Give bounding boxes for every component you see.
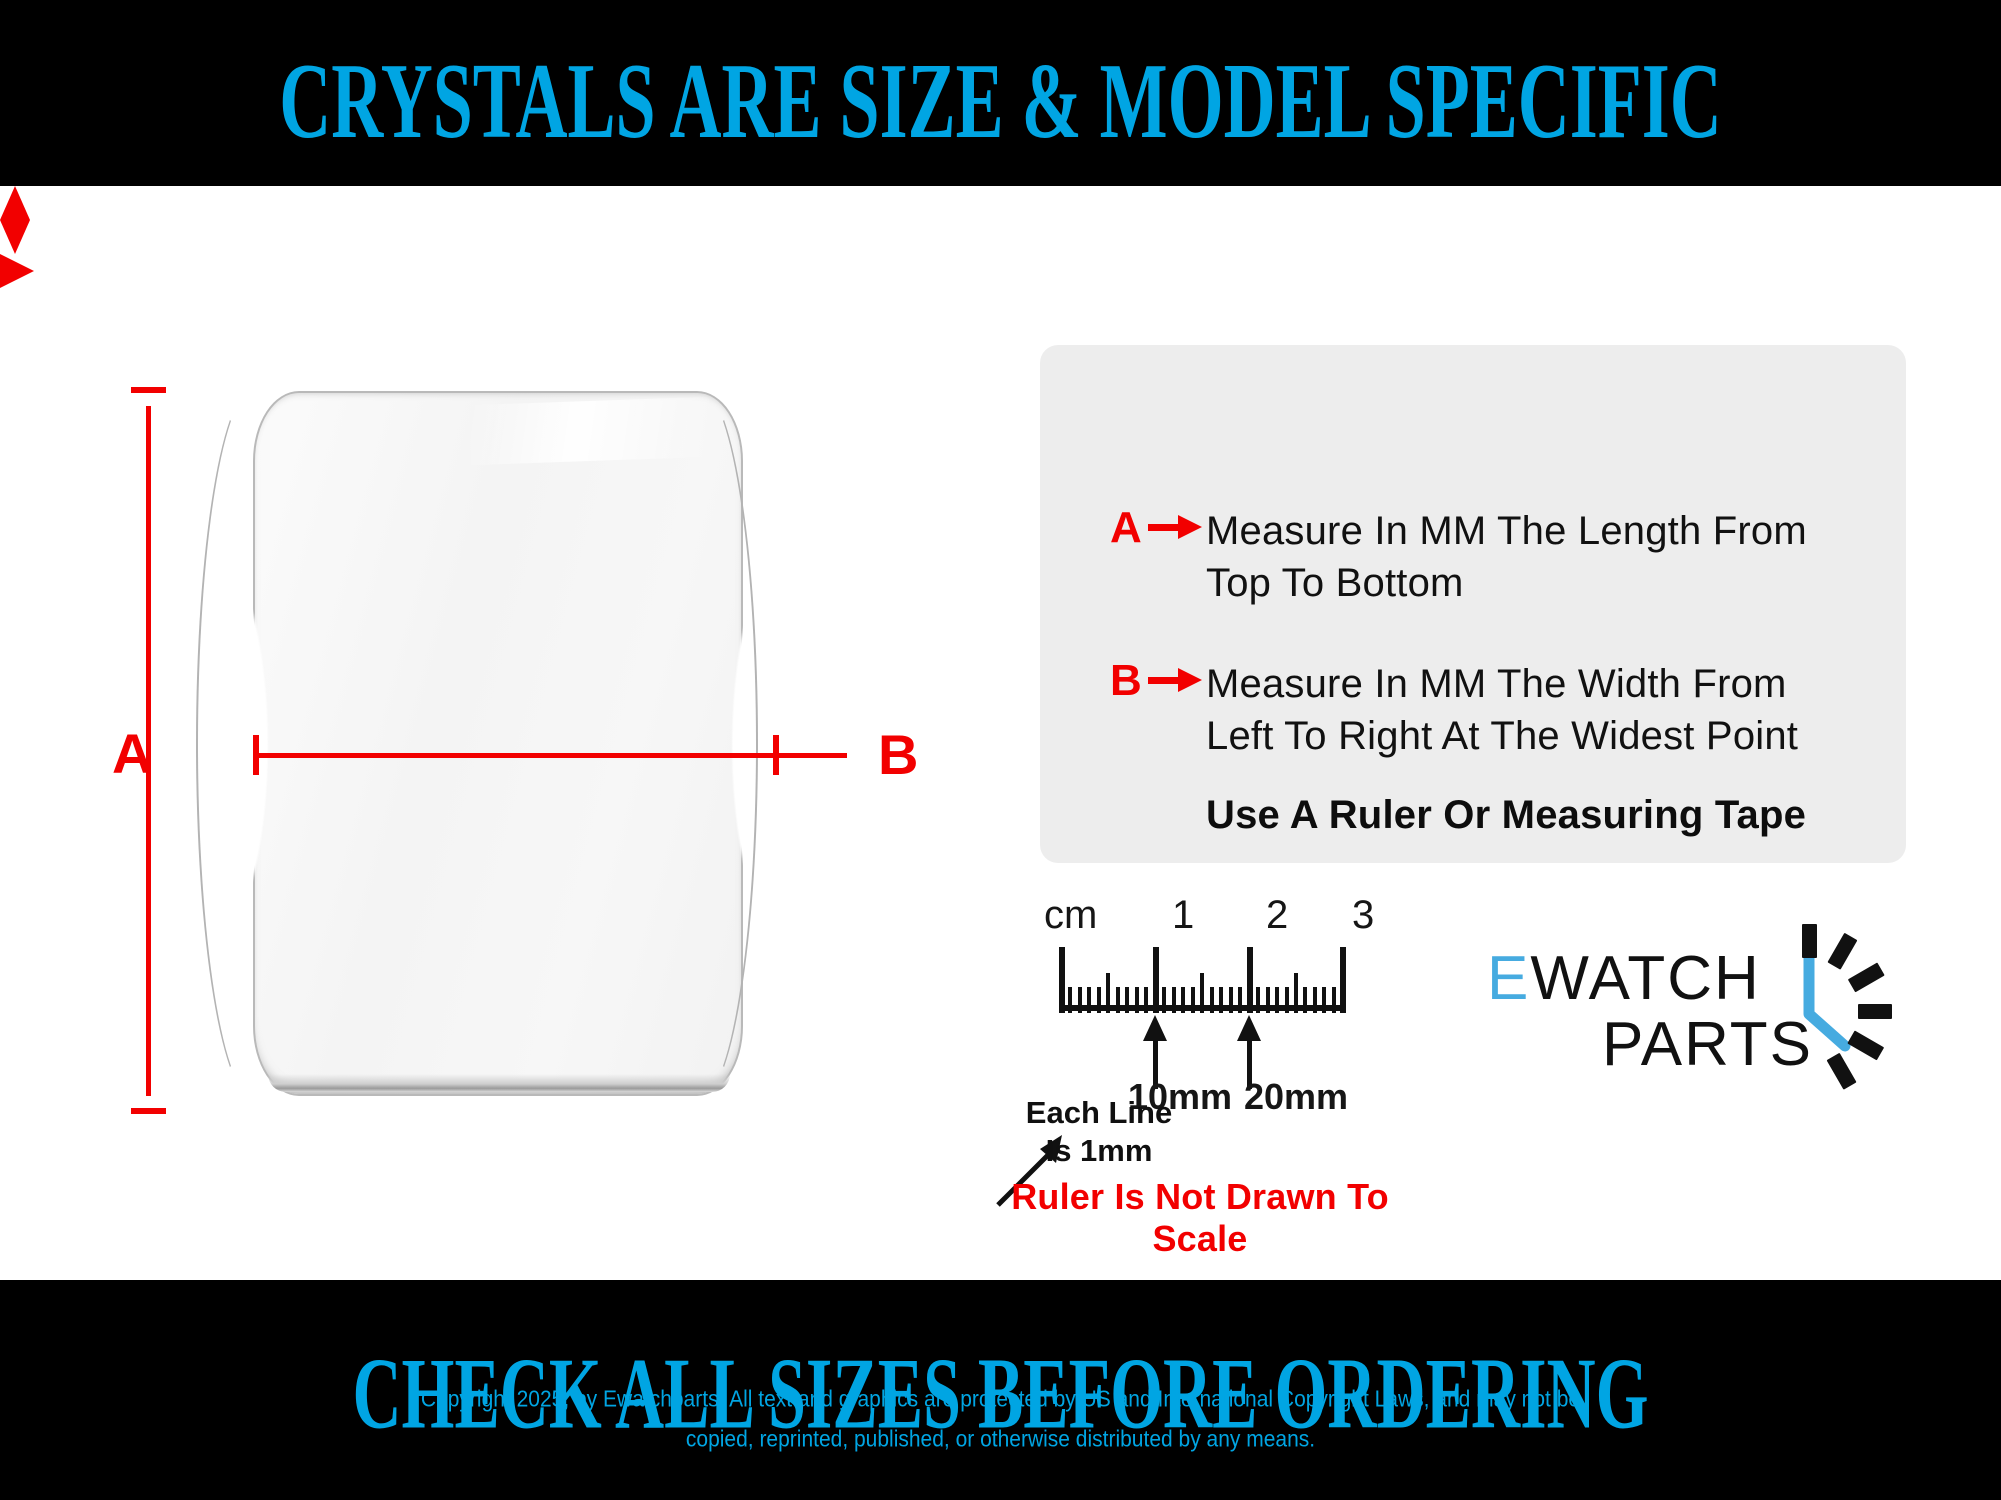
ruler-tick-minor (1313, 987, 1317, 1013)
dimension-b-line (255, 753, 847, 758)
instruction-marker-b: B (1110, 659, 1144, 703)
copyright-line-1: Copyright 2025, by Ewatchparts. All text… (0, 1378, 2001, 1423)
ruler-tick-minor (1191, 987, 1195, 1013)
ruler-label-1: 1 (1172, 895, 1194, 935)
ruler-tick-minor (1078, 987, 1082, 1013)
ruler-tick-minor (1266, 987, 1270, 1013)
dimension-a-label: A (112, 726, 152, 782)
logo-letter-e: E (1487, 944, 1530, 1013)
clock-icon (1783, 924, 1911, 1102)
ruler-callout-arrows (984, 1013, 1408, 1083)
copyright-line-2: copied, reprinted, published, or otherwi… (0, 1418, 2001, 1463)
ruler-tick-minor (1238, 987, 1242, 1013)
logo-wordmark: EWATCH PARTS (1487, 946, 1817, 1078)
ruler-tick-minor (1172, 987, 1176, 1013)
crystal-figure: A B (0, 186, 960, 1280)
ruler-tick-minor (1275, 987, 1279, 1013)
ruler-tick-minor (1135, 987, 1139, 1013)
top-banner: CRYSTALS ARE SIZE & MODEL SPECIFIC (0, 0, 2001, 186)
dimension-a-up-arrow-icon (0, 186, 30, 220)
each-line-note-line1: Each Line (984, 1094, 1214, 1132)
ruler-tick-minor (1332, 987, 1336, 1013)
arrow-right-icon (1144, 505, 1206, 549)
ruler-tick-major (1059, 947, 1065, 1013)
dimension-b-label: B (878, 727, 918, 783)
ruler-tick-minor (1256, 987, 1260, 1013)
each-line-note-line2: Is 1mm (984, 1132, 1214, 1170)
ruler-callout-20mm: 20mm (1244, 1077, 1348, 1117)
ruler-tick-minor (1229, 987, 1233, 1013)
ruler-tick-minor (1181, 987, 1185, 1013)
use-ruler-note: Use A Ruler Or Measuring Tape (1206, 793, 1806, 838)
logo-line-1: EWATCH (1487, 946, 1817, 1012)
ruler-tick-major (1153, 947, 1159, 1013)
watch-crystal-illustration (253, 391, 743, 1096)
ruler-label-cm: cm (1044, 895, 1097, 935)
instruction-text-b: Measure In MM The Width From Left To Rig… (1206, 658, 1798, 762)
ruler-tick-minor (1144, 987, 1148, 1013)
main-content-area: A B A Measure In MM The Length From Top … (0, 186, 2001, 1280)
ruler-tick-mid (1200, 973, 1204, 1013)
instruction-row-a: A Measure In MM The Length From Top To B… (1110, 505, 1807, 609)
logo-word-watch: WATCH (1530, 944, 1760, 1013)
dimension-a-top-cap (131, 387, 166, 393)
dimension-a-down-arrow-icon (0, 220, 30, 254)
copyright-block: Copyright 2025, by Ewatchparts. All text… (0, 1380, 2001, 1460)
ruler-tick-minor (1322, 987, 1326, 1013)
dimension-b-right-cap (773, 735, 779, 775)
logo-word-parts: PARTS (1487, 1012, 1817, 1078)
ruler-tick-major (1340, 947, 1346, 1013)
instruction-row-b: B Measure In MM The Width From Left To R… (1110, 658, 1798, 762)
top-banner-text: CRYSTALS ARE SIZE & MODEL SPECIFIC (279, 39, 1721, 164)
ruler-tick-mid (1106, 973, 1110, 1013)
ruler-tick-minor (1303, 987, 1307, 1013)
dimension-a-bottom-cap (131, 1108, 166, 1114)
ruler-scale-labels: cm 1 2 3 (984, 893, 1408, 943)
each-line-note: Each Line Is 1mm (984, 1094, 1214, 1170)
arrow-right-icon (1144, 658, 1206, 702)
ruler-label-3: 3 (1352, 895, 1374, 935)
ruler-tick-minor (1210, 987, 1214, 1013)
up-arrow-icon (1237, 1015, 1261, 1041)
instruction-marker-a: A (1110, 506, 1144, 550)
ruler-tick-minor (1097, 987, 1101, 1013)
instruction-text-a: Measure In MM The Length From Top To Bot… (1206, 505, 1807, 609)
ruler-tick-minor (1087, 987, 1091, 1013)
ruler-tick-minor (1285, 987, 1289, 1013)
ruler-tick-minor (1219, 987, 1223, 1013)
up-arrow-icon (1143, 1015, 1167, 1041)
ruler-tick-minor (1125, 987, 1129, 1013)
ewatchparts-logo: EWATCH PARTS (1487, 924, 1907, 1114)
ruler-label-2: 2 (1266, 895, 1288, 935)
dimension-b-right-arrow-icon (0, 254, 34, 288)
ruler-tick-minor (1068, 987, 1072, 1013)
instruction-panel: A Measure In MM The Length From Top To B… (1040, 345, 1906, 863)
scale-warning-text: Ruler Is Not Drawn To Scale (980, 1176, 1420, 1260)
ruler-tick-minor (1162, 987, 1166, 1013)
ruler-tick-minor (1116, 987, 1120, 1013)
ruler-tick-major (1247, 947, 1253, 1013)
ruler-scale (984, 947, 1408, 1013)
ruler-tick-mid (1294, 973, 1298, 1013)
